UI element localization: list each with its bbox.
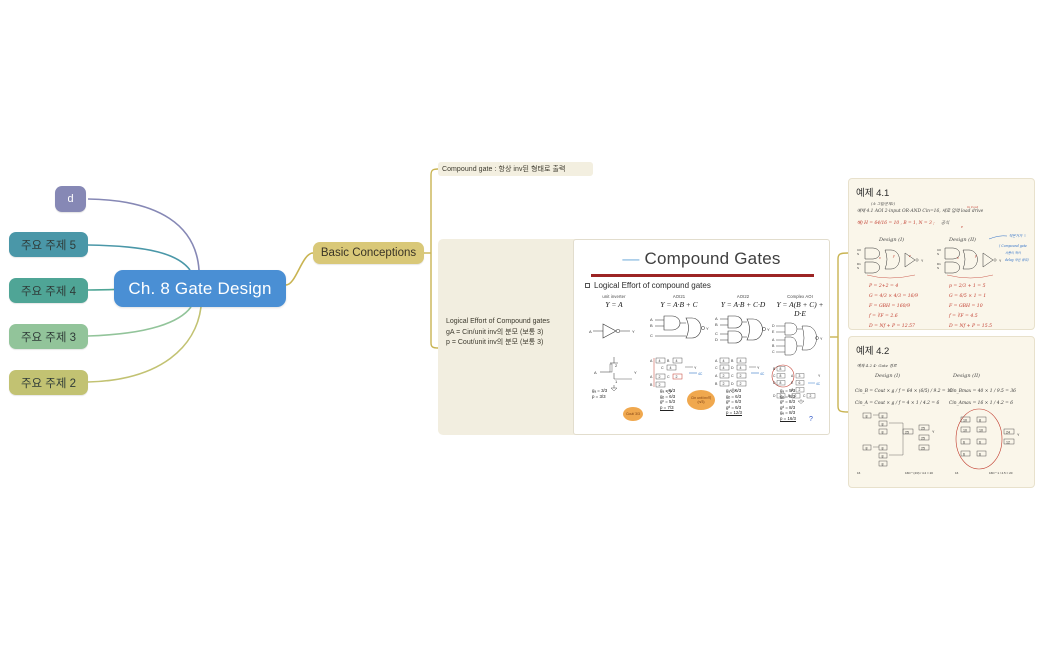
node-topic-2-label: 주요 주제 2 — [21, 375, 76, 391]
node-d-label: d — [67, 193, 73, 205]
node-topic-4-label: 주요 주제 4 — [21, 283, 76, 299]
svg-text:25: 25 — [905, 430, 909, 434]
svg-text:G = 4/3 × 4/3 = 16/9: G = 4/3 × 4/3 = 16/9 — [869, 293, 918, 299]
svg-text:Cin_B = Cout × g / f = 64 × (6: Cin_B = Cout × g / f = 64 × (6/5) / 9.2 … — [855, 389, 953, 394]
svg-text:Y: Y — [932, 430, 935, 434]
svg-text:6: 6 — [979, 440, 981, 444]
svg-text:Design (II): Design (II) — [948, 236, 976, 243]
gate-diagram-inverter: A Y — [578, 311, 650, 353]
slide-bullet: Logical Effort of compound gates — [585, 281, 711, 290]
svg-text:A: A — [715, 359, 718, 363]
node-basic-conceptions-label: Basic Conceptions — [321, 247, 416, 259]
svg-text:S: S — [937, 252, 939, 256]
svg-text:3: 3 — [799, 374, 801, 378]
svg-text:Design (I): Design (I) — [878, 236, 904, 243]
svg-text:A: A — [650, 375, 653, 379]
callout-text: Compound gate : 항상 inv된 형태로 출력 — [442, 164, 565, 174]
value-line: p = 3/3 — [592, 394, 607, 400]
node-topic-5-label: 주요 주제 5 — [21, 237, 76, 253]
svg-text:x: x — [956, 256, 959, 260]
svg-text:8: 8 — [882, 422, 884, 426]
note-panel-example-4-1[interactable]: 예제 4.1 (소 그림/문제2) 예제 4.1 AOI 2-input OR-… — [848, 178, 1035, 330]
question-mark-annotation: ? — [809, 416, 813, 423]
node-topic-3-label: 주요 주제 3 — [21, 329, 76, 345]
svg-text:4: 4 — [659, 359, 661, 363]
callout-compound-gate-note[interactable]: Compound gate : 항상 inv된 형태로 출력 — [438, 162, 593, 176]
column-kind: AOI22 — [712, 294, 774, 299]
svg-text:Cin_A = Cout × g / f = 4 × 1 /: Cin_A = Cout × g / f = 4 × 1 / 4.2 = 6 — [855, 401, 939, 406]
node-topic-3[interactable]: 주요 주제 3 — [9, 324, 88, 349]
svg-text:해) H = 64/16 = 10 , B = 1, N =: 해) H = 64/16 = 10 , B = 1, N = 3 ; — [857, 220, 935, 226]
svg-text:8: 8 — [882, 430, 884, 434]
svg-text:B: B — [715, 382, 718, 386]
annotation-bubble-2: Cin unit inv의 (n/3) — [687, 390, 715, 410]
parasitic-delay: p = 12/3 — [726, 410, 742, 416]
svg-text:Y: Y — [818, 374, 821, 378]
values-aoi21: gₐ = 6/3 gᵦ = 6/3 gᶜ = 5/3 p = 7/3 — [660, 388, 675, 410]
slide-bullet-text: Logical Effort of compound gates — [594, 281, 711, 290]
svg-text:D = Nf + P = 15.5: D = Nf + P = 15.5 — [948, 323, 992, 329]
svg-text:Y: Y — [632, 329, 635, 334]
gate-diagram-complex-aoi: D E A B C — [770, 320, 830, 362]
svg-text:A: A — [650, 359, 653, 363]
column-kind: Complex AOI — [770, 294, 830, 299]
svg-text:D: D — [773, 394, 776, 398]
svg-text:B: B — [731, 359, 734, 363]
svg-text:8: 8 — [780, 381, 782, 385]
svg-text:예제 4.2 4- Gate 경로: 예제 4.2 4- Gate 경로 — [857, 363, 897, 368]
svg-text:2: 2 — [676, 375, 678, 379]
svg-text:10: 10 — [963, 428, 967, 432]
svg-text:2: 2 — [659, 383, 661, 387]
svg-text:2: 2 — [810, 394, 812, 398]
svg-text:F = GBH = 10: F = GBH = 10 — [948, 303, 983, 309]
svg-text:(소 그림/문제2): (소 그림/문제2) — [871, 202, 896, 206]
svg-text:4C: 4C — [760, 372, 765, 376]
attachment-notes: Logical Effort of Compound gates gA = Ci… — [446, 317, 550, 349]
slide-divider — [591, 274, 814, 277]
svg-text:2: 2 — [723, 382, 725, 386]
svg-text:2: 2 — [740, 374, 742, 378]
svg-text:E: E — [791, 381, 794, 385]
svg-text:z: z — [908, 254, 911, 258]
svg-text:B: B — [650, 323, 653, 328]
node-topic-5[interactable]: 주요 주제 5 — [9, 232, 88, 257]
values-aoi22: gₐ = 6/3 gᵦ = 6/3 gᶜ = 6/3 gᵈ = 6/3 p = … — [726, 388, 742, 416]
value-line: gᶜ = 5/3 — [660, 399, 675, 405]
svg-text:8: 8 — [882, 446, 884, 450]
svg-text:D: D — [715, 337, 718, 342]
svg-text:4: 4 — [723, 366, 725, 370]
svg-text:Y: Y — [921, 259, 924, 263]
parasitic-delay: p = 7/3 — [660, 405, 675, 411]
bullet-square-icon — [585, 283, 590, 288]
svg-text:4: 4 — [676, 359, 678, 363]
slide-column-unit-inverter: unit inverter Y = A A Y — [578, 294, 650, 395]
svg-text:y: y — [892, 254, 895, 258]
root-node-label: Ch. 8 Gate Design — [128, 279, 271, 299]
svg-text:공식: 공식 — [941, 220, 950, 226]
svg-text:C: C — [650, 333, 653, 338]
svg-text:2: 2 — [615, 363, 618, 368]
svg-text:24: 24 — [1006, 430, 1010, 434]
svg-text:B: B — [772, 344, 775, 348]
column-kind: unit inverter — [578, 294, 650, 299]
svg-text:A: A — [772, 338, 775, 342]
svg-text:16: 16 — [857, 471, 861, 475]
svg-text:Design (I): Design (I) — [874, 372, 900, 379]
svg-text:( Compound gate: ( Compound gate — [999, 244, 1027, 248]
svg-text:C: C — [731, 374, 734, 378]
node-topic-2[interactable]: 주요 주제 2 — [9, 370, 88, 395]
value-line: gₐ = 6/3 — [660, 388, 675, 394]
value-line: gᶜ = 6/3 — [726, 399, 742, 405]
svg-text:25: 25 — [921, 446, 925, 450]
svg-text:2: 2 — [723, 374, 725, 378]
svg-text:Cin_Bmax = 40 × 1 / 9.5 = 36: Cin_Bmax = 40 × 1 / 9.5 = 36 — [949, 389, 1016, 394]
node-basic-conceptions[interactable]: Basic Conceptions — [313, 242, 424, 264]
svg-text:6: 6 — [799, 381, 801, 385]
svg-text:B: B — [667, 359, 670, 363]
svg-text:2: 2 — [799, 388, 801, 392]
svg-text:f = ∛F = 4.5: f = ∛F = 4.5 — [948, 312, 978, 319]
svg-text:C: C — [667, 375, 670, 379]
value-line: gₐ = 6/3 — [726, 388, 742, 394]
svg-text:S: S — [937, 266, 939, 270]
column-kind: AOI21 — [646, 294, 712, 299]
value-line: gᶜ = 8/3 — [780, 399, 796, 405]
svg-text:Y: Y — [634, 370, 637, 375]
svg-text:F = GBH = 160/9: F = GBH = 160/9 — [868, 303, 910, 309]
column-formula: Y = A(B + C) + D·E — [770, 300, 830, 318]
svg-text:12: 12 — [1006, 440, 1010, 444]
svg-text:B: B — [650, 383, 653, 387]
slide-column-complex-aoi: Complex AOI Y = A(B + C) + D·E D E A B C — [770, 294, 830, 404]
svg-text:C: C — [773, 374, 776, 378]
svg-text:D: D — [772, 324, 775, 328]
svg-text:8: 8 — [780, 367, 782, 371]
svg-text:C: C — [661, 366, 664, 370]
svg-text:D = Nf + P = 12.57: D = Nf + P = 12.57 — [868, 323, 915, 329]
column-formula: Y = A·B + C — [646, 300, 712, 309]
column-formula-text: Y = A(B + C) + D·E — [776, 300, 823, 318]
svg-text:10: 10 — [963, 418, 967, 422]
slide-title: — Compound Gates — [574, 249, 829, 269]
svg-text:6: 6 — [963, 440, 965, 444]
svg-text:8: 8 — [866, 414, 868, 418]
svg-text:6: 6 — [979, 452, 981, 456]
svg-text:8: 8 — [882, 414, 884, 418]
svg-text:Y: Y — [757, 366, 760, 370]
svg-text:2: 2 — [659, 375, 661, 379]
value-line: gₐ = 5/3 — [780, 388, 796, 394]
slide-compound-gates[interactable]: — Compound Gates Logical Effort of compo… — [573, 239, 830, 435]
svg-text:A: A — [650, 317, 653, 322]
svg-text:y: y — [974, 254, 977, 258]
svg-text:예제 4.1 AOI 2-input OR-AND Ci: 예제 4.1 AOI 2-input OR-AND Cin=16, 세로 입력 … — [857, 208, 984, 214]
svg-text:A: A — [594, 370, 597, 375]
column-formula: Y = A·B + C·D — [712, 300, 774, 309]
transistor-sizing-aoi21: A 4 B 4 C 4 A 2 C 2 — [646, 355, 712, 395]
svg-text:p = 2/3 + 1 = 5: p = 2/3 + 1 = 5 — [949, 283, 986, 289]
svg-text:Cin_Amax = 16 × 1 / 4.2 = 6: Cin_Amax = 16 × 1 / 4.2 = 6 — [949, 401, 1013, 406]
svg-text:8: 8 — [979, 418, 981, 422]
slide-column-aoi22: AOI22 Y = A·B + C·D A B C D — [712, 294, 774, 395]
transistor-sizing-inverter: 2 A 1 Y — [578, 355, 650, 395]
values-unit-inverter: gₐ = 3/3 p = 3/3 — [592, 388, 607, 399]
svg-text:A: A — [791, 374, 794, 378]
svg-text:4C: 4C — [816, 382, 821, 386]
handwriting-example-4-1: (소 그림/문제2) 예제 4.1 AOI 2-input OR-AND Cin… — [849, 179, 1035, 330]
parasitic-delay: p = 16/3 — [780, 416, 796, 422]
svg-text:6: 6 — [963, 452, 965, 456]
svg-text:x: x — [878, 256, 881, 260]
svg-text:16: 16 — [955, 471, 959, 475]
svg-text:P: P — [961, 225, 963, 229]
node-d[interactable]: d — [55, 186, 86, 212]
svg-text:C: C — [715, 331, 718, 336]
svg-text:Y: Y — [820, 337, 823, 341]
svg-text:4: 4 — [670, 366, 672, 370]
node-topic-4[interactable]: 주요 주제 4 — [9, 278, 88, 303]
svg-text:P = 2+2 = 4: P = 2+2 = 4 — [868, 283, 898, 289]
svg-text:in Cout: in Cout — [967, 205, 979, 209]
svg-text:E: E — [772, 330, 775, 334]
svg-text:S: S — [857, 266, 859, 270]
svg-text:S: S — [857, 252, 859, 256]
svg-text:A: A — [715, 316, 718, 321]
column-formula-text: Y = A — [605, 300, 622, 309]
svg-text:4C: 4C — [698, 372, 703, 376]
slide-title-dash: — — [622, 249, 639, 268]
svg-text:Design (II): Design (II) — [952, 372, 980, 379]
svg-text:C: C — [803, 394, 806, 398]
svg-text:f = ∛F = 2.6: f = ∛F = 2.6 — [868, 312, 898, 319]
root-node[interactable]: Ch. 8 Gate Design — [114, 270, 286, 307]
svg-text:8: 8 — [882, 462, 884, 466]
column-formula-text: Y = A·B + C — [660, 300, 697, 309]
svg-text:D: D — [731, 366, 734, 370]
value-line: gₐ = 3/3 — [592, 388, 607, 394]
svg-text:1: 1 — [615, 379, 618, 384]
svg-text:4: 4 — [723, 359, 725, 363]
svg-text:Y: Y — [1017, 433, 1020, 437]
svg-text:16D * (4/3) / 4.2 = 20: 16D * (4/3) / 4.2 = 20 — [905, 471, 933, 475]
slide-title-text: Compound Gates — [645, 249, 781, 268]
svg-text:4: 4 — [740, 359, 742, 363]
svg-text:25: 25 — [921, 436, 925, 440]
svg-text:2: 2 — [740, 382, 742, 386]
column-formula-text: Y = A·B + C·D — [721, 300, 765, 309]
note-title: 예제 4.1 — [856, 185, 889, 199]
svg-text:4: 4 — [740, 366, 742, 370]
svg-text:G = 6/5 × 1 = 1: G = 6/5 × 1 = 1 — [949, 293, 986, 299]
gate-diagram-aoi22: A B C D Y — [712, 311, 774, 353]
svg-text:8: 8 — [882, 454, 884, 458]
svg-text:C: C — [715, 366, 718, 370]
svg-text:사용이 적어: 사용이 적어 — [1005, 251, 1022, 255]
svg-text:Y: Y — [694, 366, 697, 370]
svg-text:A: A — [715, 374, 718, 378]
svg-text:25: 25 — [921, 426, 925, 430]
values-complex-aoi: gₐ = 5/3 gᵦ = 8/3 gᶜ = 8/3 gᵈ = 8/3 gₑ =… — [780, 388, 796, 422]
svg-text:Y: Y — [999, 259, 1002, 263]
transistor-sizing-aoi22: A 4 B 4 C 4 D 4 A 2 — [712, 355, 774, 395]
transistor-sizing-complex-aoi: B 8 C 8 D 8 A 3 E 6 — [770, 364, 830, 404]
svg-text:delay 작은 경우): delay 작은 경우) — [1005, 258, 1029, 262]
handwriting-example-4-2: 예제 4.2 4- Gate 경로 Design (I) Design (II)… — [849, 337, 1035, 488]
svg-text:작은거가 ↑: 작은거가 ↑ — [1009, 234, 1026, 238]
svg-text:16D * 1 / 4.5 = 20: 16D * 1 / 4.5 = 20 — [989, 471, 1013, 475]
svg-text:10: 10 — [979, 428, 983, 432]
svg-text:8: 8 — [780, 374, 782, 378]
mindmap-canvas: d 주요 주제 5 주요 주제 4 주요 주제 3 주요 주제 2 Ch. 8 … — [0, 0, 1049, 650]
note-title: 예제 4.2 — [856, 343, 889, 357]
svg-text:Y: Y — [706, 326, 709, 331]
svg-text:A: A — [589, 329, 592, 334]
svg-text:8: 8 — [866, 446, 868, 450]
gate-diagram-aoi21: A B C Y — [646, 311, 712, 353]
svg-text:C: C — [772, 350, 775, 354]
note-panel-example-4-2[interactable]: 예제 4.2 예제 4.2 4- Gate 경로 Design (I) Desi… — [848, 336, 1035, 488]
column-formula: Y = A — [578, 300, 650, 309]
slide-column-aoi21: AOI21 Y = A·B + C A B C — [646, 294, 712, 395]
svg-text:D: D — [731, 382, 734, 386]
annotation-bubble-1: Cout/ 3/3 — [623, 407, 643, 421]
svg-text:B: B — [715, 322, 718, 327]
